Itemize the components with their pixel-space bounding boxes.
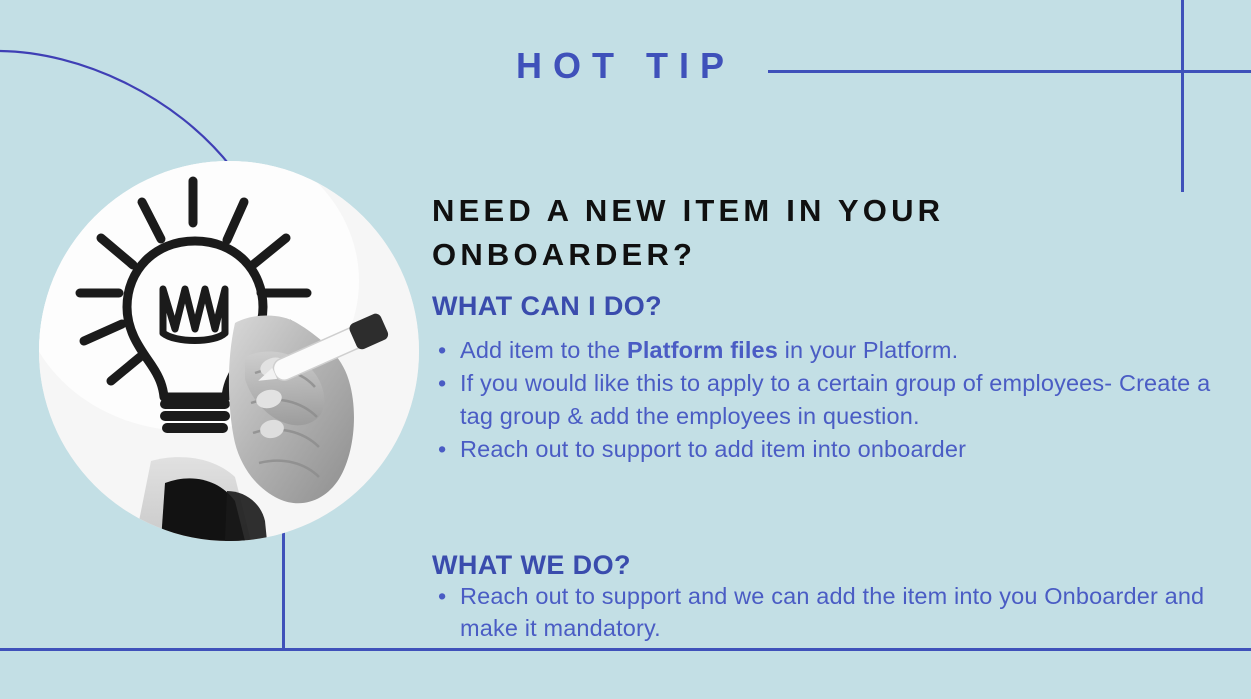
section-heading-what-can-i-do: WHAT CAN I DO? [432,293,662,320]
list-item-text: If you would like this to apply to a cer… [460,370,1210,428]
hot-tip-graphic: HOT TIP NEED A NEW ITEM IN YOUR ONBOARDE… [0,0,1251,699]
list-item: Reach out to support to add item into on… [432,433,1222,465]
list-item: If you would like this to apply to a cer… [432,367,1222,432]
list-item-text: Reach out to support to add item into on… [460,436,966,462]
bullet-list-what-can-i-do: Add item to the Platform files in your P… [432,334,1222,467]
divider-line-top-horizontal [768,70,1251,73]
list-item: Add item to the Platform files in your P… [432,334,1222,366]
page-title-hot-tip: HOT TIP [516,48,735,84]
section-heading-what-we-do: WHAT WE DO? [432,552,631,579]
list-item-text: in your Platform. [778,337,958,363]
divider-line-top-vertical [1181,0,1184,192]
emphasis-text: Platform files [627,337,778,363]
list-item: Reach out to support and we can add the … [432,580,1222,645]
list-item-text: Reach out to support and we can add the … [460,583,1204,641]
lightbulb-photo [39,161,419,541]
list-item-text: Add item to the [460,337,627,363]
page-heading: NEED A NEW ITEM IN YOUR ONBOARDER? [432,189,1122,277]
bullet-list-what-we-do: Reach out to support and we can add the … [432,580,1222,646]
divider-line-bottom-horizontal [0,648,1251,651]
